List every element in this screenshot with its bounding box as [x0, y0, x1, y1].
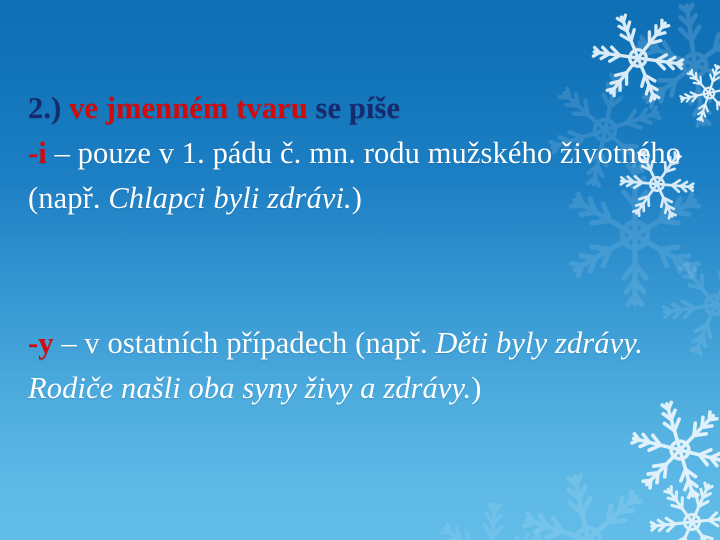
- rule-y-marker: -y: [28, 326, 54, 360]
- slide-text-content: 2.) ve jmenném tvaru se píše -i – pouze …: [0, 0, 720, 540]
- slide-canvas: 2.) ve jmenném tvaru se píše -i – pouze …: [0, 0, 720, 540]
- rule-y-close-paren: ): [471, 371, 481, 405]
- rule-i-example: Chlapci byli zdrávi.: [108, 181, 351, 215]
- rule-i-marker: -i: [28, 136, 47, 170]
- paragraph-rule-y: -y – v ostatních případech (např. Děti b…: [28, 321, 712, 411]
- rule-y-body: – v ostatních případech (např.: [54, 326, 436, 360]
- rule-i-close-paren: ): [352, 181, 362, 215]
- paragraph-rule-heading-and-i: 2.) ve jmenném tvaru se píše -i – pouze …: [28, 86, 712, 221]
- heading-number: 2.): [28, 91, 69, 125]
- heading-red-phrase: ve jmenném tvaru: [69, 91, 308, 125]
- heading-tail: se píše: [308, 91, 400, 125]
